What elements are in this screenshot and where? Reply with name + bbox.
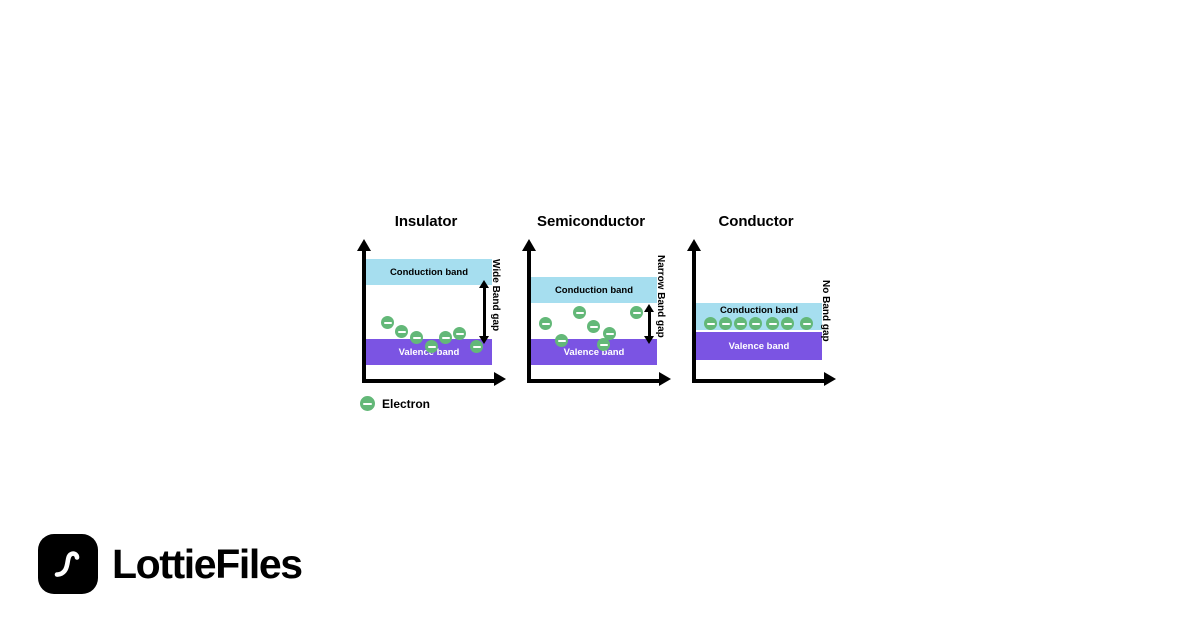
electron [781,317,794,330]
x-axis-arrowhead [659,372,671,386]
panel-semiconductor: Semiconductor Conduction band Valence ba… [515,205,675,385]
panel-title-insulator: Insulator [350,213,502,230]
lottiefiles-s-mark [38,534,98,594]
panel-insulator: Insulator Conduction band Valence band W… [350,205,510,385]
x-axis-arrowhead [824,372,836,386]
electron [425,340,438,353]
lottiefiles-logo: LottieFiles [38,534,302,594]
gap-label-conductor: No Band gap [820,280,831,342]
gap-arrow-head-down [644,336,654,344]
electron [704,317,717,330]
electron-minus-icon [360,396,375,411]
electron [800,317,813,330]
x-axis [692,379,828,383]
electron [603,327,616,340]
gap-arrow-head-down [479,336,489,344]
conduction-band-insulator: Conduction band [366,259,492,285]
panel-title-semiconductor: Semiconductor [515,213,667,230]
conduction-band-label: Conduction band [366,267,492,278]
lottiefiles-wordmark: LottieFiles [112,544,302,585]
conduction-band-label: Conduction band [531,285,657,296]
conduction-band-semiconductor: Conduction band [531,277,657,303]
panel-title-conductor: Conductor [680,213,832,230]
electron [573,306,586,319]
electron [587,320,600,333]
electron [555,334,568,347]
valence-band-conductor: Valence band [696,332,822,360]
electron [766,317,779,330]
valence-band-label: Valence band [531,347,657,358]
electron [539,317,552,330]
electron [395,325,408,338]
legend-label-electron: Electron [382,397,430,411]
electron [749,317,762,330]
gap-arrow-line [483,287,486,337]
conduction-band-label: Conduction band [696,305,822,316]
x-axis [527,379,663,383]
valence-band-label: Valence band [696,341,822,352]
electron [453,327,466,340]
electron [719,317,732,330]
electron [381,316,394,329]
x-axis [362,379,498,383]
legend: Electron [360,396,430,411]
electron [410,331,423,344]
x-axis-arrowhead [494,372,506,386]
gap-arrow-line [648,311,651,337]
panel-conductor: Conductor Conduction band Valence band N… [680,205,840,385]
electron [734,317,747,330]
electron [630,306,643,319]
valence-band-semiconductor: Valence band [531,339,657,365]
gap-label-semiconductor: Narrow Band gap [655,255,666,338]
electron [439,331,452,344]
band-gap-diagram: Insulator Conduction band Valence band W… [350,205,870,420]
gap-label-insulator: Wide Band gap [490,259,501,331]
